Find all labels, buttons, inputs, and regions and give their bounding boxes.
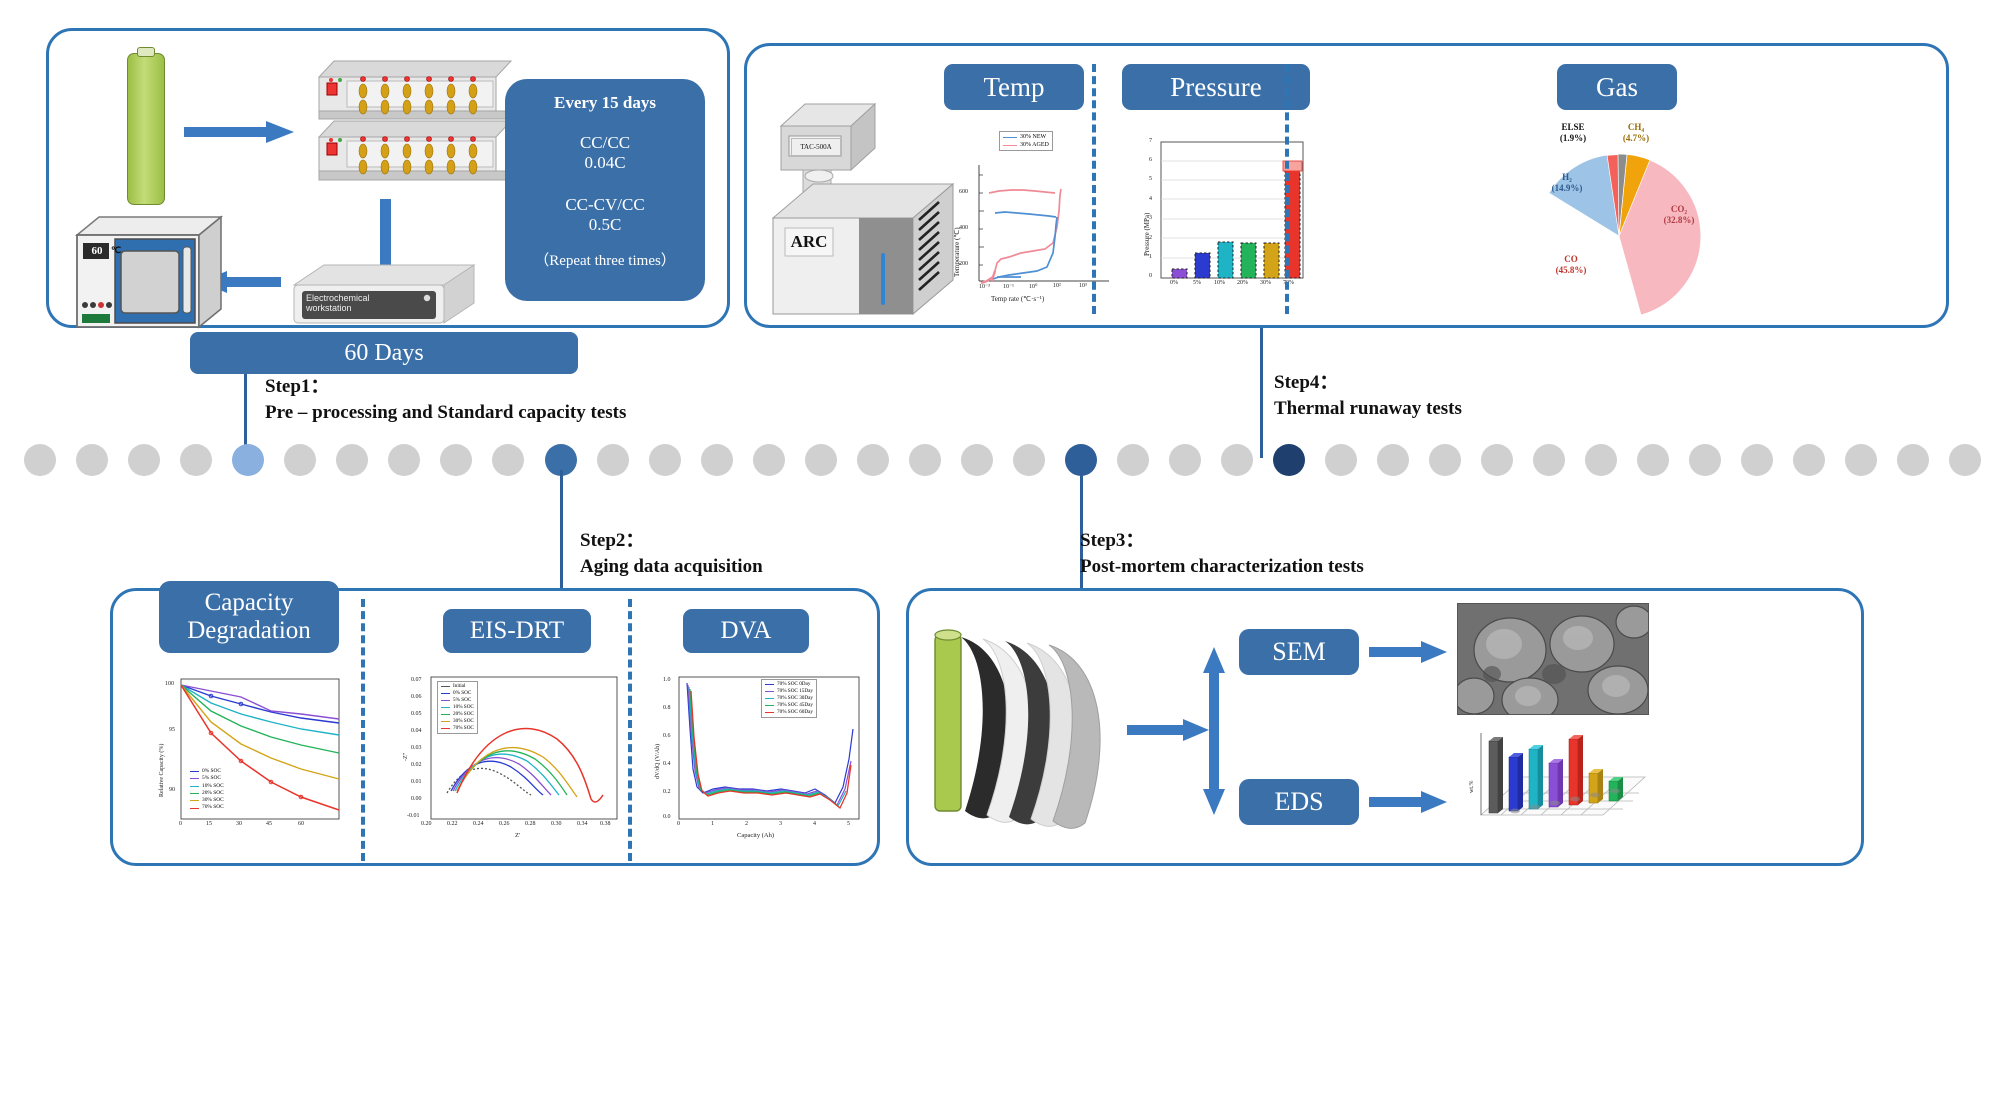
timeline-dot	[753, 444, 785, 476]
dva-xtick-5: 5	[847, 821, 850, 827]
capacity-xtick-0: 0	[179, 821, 182, 827]
pressure-xtick-3: 20%	[1237, 280, 1248, 286]
eis-ytick-007: 0.07	[411, 677, 422, 683]
pressure-ytick-0: 0	[1149, 273, 1152, 279]
timeline-dot	[1793, 444, 1825, 476]
step2-panel: Capacity Degradation 0% SOC 5% SOC 10% S…	[110, 588, 880, 866]
dva-ytick-08: 0.8	[663, 705, 671, 711]
temp-ytick-600: 600	[959, 189, 968, 195]
tab-eis-drt[interactable]: EIS-DRT	[443, 609, 591, 653]
protocol-line5: （Repeat three times）	[505, 249, 705, 270]
eis-xtick-4: 0.28	[525, 821, 536, 827]
temp-ylabel: Temperature (℃)	[953, 227, 961, 277]
divider-temp-pressure	[1092, 64, 1096, 314]
timeline-dot	[1637, 444, 1669, 476]
dva-xtick-4: 4	[813, 821, 816, 827]
eis-ytick-006: 0.06	[411, 694, 422, 700]
timeline-dot	[1377, 444, 1409, 476]
eis-ytick-003: 0.03	[411, 745, 422, 751]
workstation-label-line1: Electrochemical	[306, 293, 370, 303]
temp-xtick-3: 10²	[1053, 283, 1061, 289]
tab-pressure-label: Pressure	[1170, 72, 1261, 102]
arrow-sem-to-image	[1369, 641, 1447, 663]
timeline-dot-step4[interactable]	[1273, 444, 1305, 476]
eis-ytick-neg001: -0.01	[407, 813, 420, 819]
timeline-dot	[649, 444, 681, 476]
arrow-cell-to-analysis	[1127, 719, 1209, 741]
capacity-ylabel: Relative Capacity (%)	[159, 744, 165, 797]
tab-dva-label: DVA	[721, 617, 772, 645]
capacity-degradation-chart: 0% SOC 5% SOC 10% SOC 20% SOC 30% SOC 70…	[143, 669, 353, 859]
pressure-ytick-4: 4	[1149, 196, 1152, 202]
timeline-dot	[336, 444, 368, 476]
eds-ylabel: wt.%	[1469, 781, 1475, 794]
eis-xtick-3: 0.26	[499, 821, 510, 827]
pressure-ylabel: Pressure (MPa)	[1143, 213, 1151, 256]
eds-3d-bar-chart: wt.%	[1453, 711, 1663, 861]
pie-label-else: ELSE (1.9%)	[1541, 122, 1605, 144]
timeline-dot	[1897, 444, 1929, 476]
timeline-dot	[1481, 444, 1513, 476]
timeline-dot	[440, 444, 472, 476]
tab-gas-label: Gas	[1596, 72, 1638, 102]
charge-protocol-box: Every 15 days CC/CC 0.04C CC-CV/CC 0.5C …	[505, 79, 705, 301]
dva-ytick-10: 1.0	[663, 677, 671, 683]
timeline-dot	[1689, 444, 1721, 476]
temp-xtick-2: 10⁰	[1029, 283, 1037, 290]
dva-chart-legend: 70% SOC 0Day 70% SOC 15Day 70% SOC 30Day…	[761, 679, 817, 718]
timeline-dot	[1845, 444, 1877, 476]
eds-button[interactable]: EDS	[1239, 779, 1359, 825]
divider-pressure-gas	[1285, 64, 1289, 314]
eis-ytick-001: 0.01	[411, 779, 422, 785]
oven-temperature-value: 60	[92, 245, 103, 257]
dva-ytick-04: 0.4	[663, 761, 671, 767]
eis-xtick-7: 0.38	[600, 821, 611, 827]
timeline-dot	[1949, 444, 1981, 476]
pressure-xtick-0: 0%	[1170, 280, 1178, 286]
protocol-line3: CC-CV/CC	[505, 195, 705, 215]
duration-banner-60days: 60 Days	[190, 332, 578, 374]
tab-eis-drt-label: EIS-DRT	[470, 617, 564, 645]
eis-ytick-005: 0.05	[411, 711, 422, 717]
protocol-line4: 0.5C	[505, 215, 705, 235]
timeline-dot	[909, 444, 941, 476]
eis-ytick-000: 0.00	[411, 796, 422, 802]
eis-xtick-2: 0.24	[473, 821, 484, 827]
timeline-dot-step1[interactable]	[232, 444, 264, 476]
timeline-dot	[284, 444, 316, 476]
pie-label-co: CO (45.8%)	[1543, 254, 1599, 276]
pressure-xtick-1: 5%	[1193, 280, 1201, 286]
timeline-dot	[24, 444, 56, 476]
step2-label: Step2： Aging data acquisition	[580, 528, 1000, 579]
tab-dva[interactable]: DVA	[683, 609, 809, 653]
pressure-xtick-2: 10%	[1214, 280, 1225, 286]
temp-xlabel: Temp rate (℃·s⁻¹)	[991, 295, 1044, 303]
gas-pie-chart: ELSE (1.9%) CH₄ (4.7%) H₂ (14.9%) CO₂ (3…	[1507, 118, 1737, 318]
eis-ylabel: -Z''	[403, 753, 409, 761]
timeline-dot	[1429, 444, 1461, 476]
pie-label-ch4: CH₄ (4.7%)	[1607, 122, 1665, 144]
arrow-eds-to-chart	[1369, 791, 1447, 813]
protocol-heading: Every 15 days	[505, 93, 705, 113]
timeline-dot	[1169, 444, 1201, 476]
capacity-xtick-45: 45	[266, 821, 272, 827]
dva-xtick-2: 2	[745, 821, 748, 827]
timeline-dot	[1533, 444, 1565, 476]
timeline-dot	[1117, 444, 1149, 476]
arc-name-label: ARC	[787, 230, 831, 254]
temp-xtick-4: 10³	[1079, 283, 1087, 289]
step3-label: Step3： Post-mortem characterization test…	[1080, 528, 1560, 579]
timeline-dot	[805, 444, 837, 476]
capacity-xtick-15: 15	[206, 821, 212, 827]
step1-label: Step1： Pre – processing and Standard cap…	[265, 374, 825, 425]
dva-ytick-02: 0.2	[663, 789, 671, 795]
step3-panel: SEM	[906, 588, 1864, 866]
tab-capacity-degradation-label: Capacity Degradation	[187, 589, 311, 645]
tab-gas[interactable]: Gas	[1557, 64, 1677, 110]
battery-cell-icon	[127, 53, 165, 205]
timeline-dot	[1741, 444, 1773, 476]
duration-banner-label: 60 Days	[344, 340, 423, 367]
timeline-dot	[701, 444, 733, 476]
sem-button[interactable]: SEM	[1239, 629, 1359, 675]
capacity-ytick-90: 90	[169, 787, 175, 793]
step1-panel: Electrochemical workstation 60 ℃ Every	[46, 28, 730, 328]
eis-xtick-6: 0.34	[577, 821, 588, 827]
eds-label: EDS	[1274, 787, 1323, 817]
tab-pressure[interactable]: Pressure	[1122, 64, 1310, 110]
workstation-label-line2: workstation	[306, 303, 352, 313]
temp-xtick-0: 10⁻³	[979, 283, 990, 290]
temp-chart: 30% NEW 30% AGED 600 400 200 Temperature…	[937, 131, 1113, 311]
dva-xtick-1: 1	[711, 821, 714, 827]
timeline-dot	[1585, 444, 1617, 476]
dva-xtick-0: 0	[677, 821, 680, 827]
capacity-xtick-60: 60	[298, 821, 304, 827]
timeline-dot	[76, 444, 108, 476]
timeline-dot	[597, 444, 629, 476]
capacity-xtick-30: 30	[236, 821, 242, 827]
eis-chart-legend: Initial 0% SOC 5% SOC 10% SOC 20% SOC 30…	[437, 681, 478, 734]
timeline-dot	[128, 444, 160, 476]
dva-xtick-3: 3	[779, 821, 782, 827]
sem-label: SEM	[1272, 637, 1325, 667]
battery-tester-icon	[301, 49, 521, 199]
step4-panel: TAC-500A ARC Temp 30% NEW 30% AGED	[744, 43, 1949, 328]
timeline-dot	[1221, 444, 1253, 476]
timeline-dot	[1013, 444, 1045, 476]
timeline-dot	[857, 444, 889, 476]
pressure-ytick-5: 5	[1149, 176, 1152, 182]
timeline-dot	[961, 444, 993, 476]
step2-connector	[560, 470, 563, 592]
dva-ylabel: dV/dQ (V/Ah)	[655, 744, 661, 779]
arrow-split-up-down	[1203, 647, 1225, 815]
tab-temp[interactable]: Temp	[944, 64, 1084, 110]
step4-label: Step4： Thermal runaway tests	[1274, 370, 1714, 421]
sem-micrograph-image	[1457, 603, 1649, 715]
timeline-dot	[492, 444, 524, 476]
thermal-chamber-icon: 60 ℃	[71, 209, 231, 329]
dva-ytick-00: 0.0	[663, 814, 671, 820]
dva-chart: 70% SOC 0Day 70% SOC 15Day 70% SOC 30Day…	[643, 669, 868, 859]
timeline-dot	[1325, 444, 1357, 476]
eis-ytick-002: 0.02	[411, 762, 422, 768]
pressure-ytick-7: 7	[1149, 138, 1152, 144]
timeline	[0, 440, 1997, 480]
capacity-chart-legend: 0% SOC 5% SOC 10% SOC 20% SOC 30% SOC 70…	[187, 767, 227, 813]
dva-ytick-06: 0.6	[663, 733, 671, 739]
tab-capacity-degradation[interactable]: Capacity Degradation	[159, 581, 339, 653]
step4-connector	[1260, 328, 1263, 458]
timeline-dot	[388, 444, 420, 476]
protocol-line2: 0.04C	[505, 153, 705, 173]
pressure-xtick-4: 30%	[1260, 280, 1271, 286]
eis-xtick-1: 0.22	[447, 821, 458, 827]
eis-drt-chart: Initial 0% SOC 5% SOC 10% SOC 20% SOC 30…	[395, 669, 625, 859]
oven-temperature-unit: ℃	[111, 245, 121, 255]
arrow-cell-to-tester	[184, 121, 294, 143]
divider-eis-dva	[628, 599, 632, 861]
pie-label-co2: CO₂ (32.8%)	[1647, 204, 1711, 226]
capacity-ytick-95: 95	[169, 727, 175, 733]
divider-capacity-eis	[361, 599, 365, 861]
pie-label-h2: H₂ (14.9%)	[1539, 172, 1595, 194]
dva-xlabel: Capacity (Ah)	[737, 832, 774, 839]
electrochemical-workstation-icon: Electrochemical workstation	[284, 259, 484, 331]
battery-terminal-icon	[137, 47, 155, 57]
protocol-line1: CC/CC	[505, 133, 705, 153]
eis-xlabel: Z'	[515, 832, 520, 839]
eis-xtick-0: 0.20	[421, 821, 432, 827]
eis-ytick-004: 0.04	[411, 728, 422, 734]
tab-temp-label: Temp	[983, 72, 1044, 102]
capacity-ytick-100: 100	[165, 681, 174, 687]
electrode-layers-icon	[921, 617, 1151, 847]
temp-xtick-1: 10⁻¹	[1003, 283, 1014, 290]
timeline-dot	[180, 444, 212, 476]
eis-xtick-5: 0.30	[551, 821, 562, 827]
arc-model-label: TAC-500A	[791, 138, 841, 156]
pressure-ytick-6: 6	[1149, 157, 1152, 163]
